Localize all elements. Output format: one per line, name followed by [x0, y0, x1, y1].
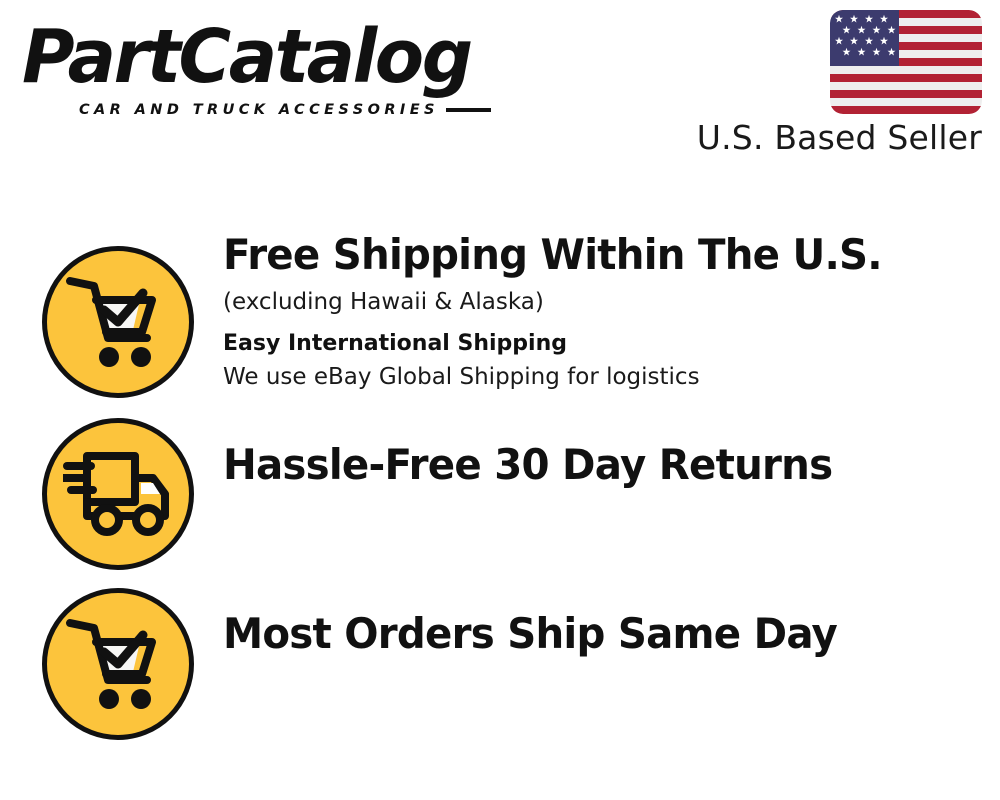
feature-subtitle: (excluding Hawaii & Alaska) — [223, 285, 983, 319]
feature-text-block: Free Shipping Within The U.S. (excluding… — [223, 229, 983, 394]
us-based-seller-label: U.S. Based Seller — [562, 118, 982, 158]
shopping-cart-check-icon — [42, 246, 194, 398]
feature-text-block: Most Orders Ship Same Day — [223, 608, 983, 660]
feature-subtitle-strong: Easy International Shipping — [223, 327, 983, 360]
feature-list: Free Shipping Within The U.S. (excluding… — [0, 225, 1000, 740]
brand-wordmark: PartCatalog — [22, 14, 471, 100]
feature-subtitle-secondary: We use eBay Global Shipping for logistic… — [223, 361, 983, 394]
partcatalog-logo: PartCatalog CAR AND TRUCK ACCESSORIES — [22, 14, 492, 119]
shopping-cart-check-icon — [42, 588, 194, 740]
feature-row: Most Orders Ship Same Day — [0, 568, 1000, 740]
feature-title: Hassle-Free 30 Day Returns — [223, 439, 953, 491]
delivery-truck-icon — [42, 418, 194, 570]
brand-tagline-rule — [446, 108, 491, 112]
feature-row: Free Shipping Within The U.S. (excluding… — [0, 225, 1000, 397]
promo-banner: PartCatalog CAR AND TRUCK ACCESSORIES — [0, 0, 1000, 800]
feature-text-block: Hassle-Free 30 Day Returns — [223, 439, 983, 491]
feature-title: Most Orders Ship Same Day — [223, 608, 953, 660]
brand-tagline-row: CAR AND TRUCK ACCESSORIES — [79, 102, 491, 118]
brand-tagline: CAR AND TRUCK ACCESSORIES — [79, 102, 439, 118]
feature-row: Hassle-Free 30 Day Returns — [0, 397, 1000, 568]
feature-title: Free Shipping Within The U.S. — [223, 229, 953, 281]
us-flag-icon — [830, 10, 982, 114]
